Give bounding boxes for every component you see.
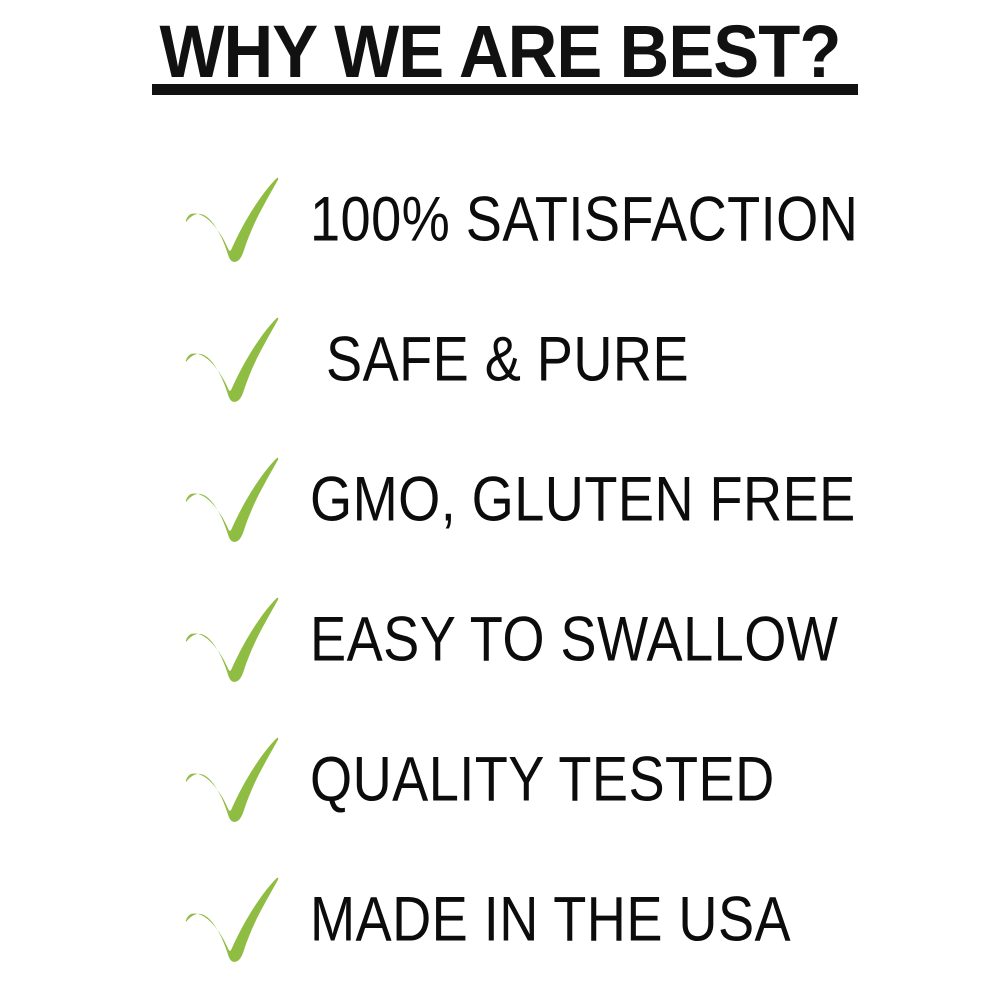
list-item: MADE IN THE USA (0, 850, 1000, 990)
feature-label: MADE IN THE USA (310, 889, 791, 952)
feature-label: EASY TO SWALLOW (310, 609, 838, 672)
feature-label: SAFE & PURE (326, 329, 689, 392)
list-item: EASY TO SWALLOW (0, 570, 1000, 710)
feature-label: QUALITY TESTED (310, 749, 775, 812)
list-item: SAFE & PURE (0, 290, 1000, 430)
title-underline-rule (152, 84, 858, 95)
green-check-icon (183, 874, 281, 966)
green-check-icon (183, 734, 281, 826)
page-title: WHY WE ARE BEST? (35, 18, 965, 86)
green-check-icon (183, 314, 281, 406)
feature-label: 100% SATISFACTION (310, 189, 858, 252)
green-check-icon (183, 454, 281, 546)
green-check-icon (183, 594, 281, 686)
list-item: GMO, GLUTEN FREE (0, 430, 1000, 570)
benefits-graphic: WHY WE ARE BEST? 100% SATISFACTION SAFE … (0, 0, 1000, 1000)
list-item: 100% SATISFACTION (0, 150, 1000, 290)
feature-label: GMO, GLUTEN FREE (310, 469, 856, 532)
page-title-block: WHY WE ARE BEST? (0, 18, 1000, 86)
feature-list: 100% SATISFACTION SAFE & PURE GMO, GLUTE… (0, 150, 1000, 980)
list-item: QUALITY TESTED (0, 710, 1000, 850)
green-check-icon (183, 174, 281, 266)
